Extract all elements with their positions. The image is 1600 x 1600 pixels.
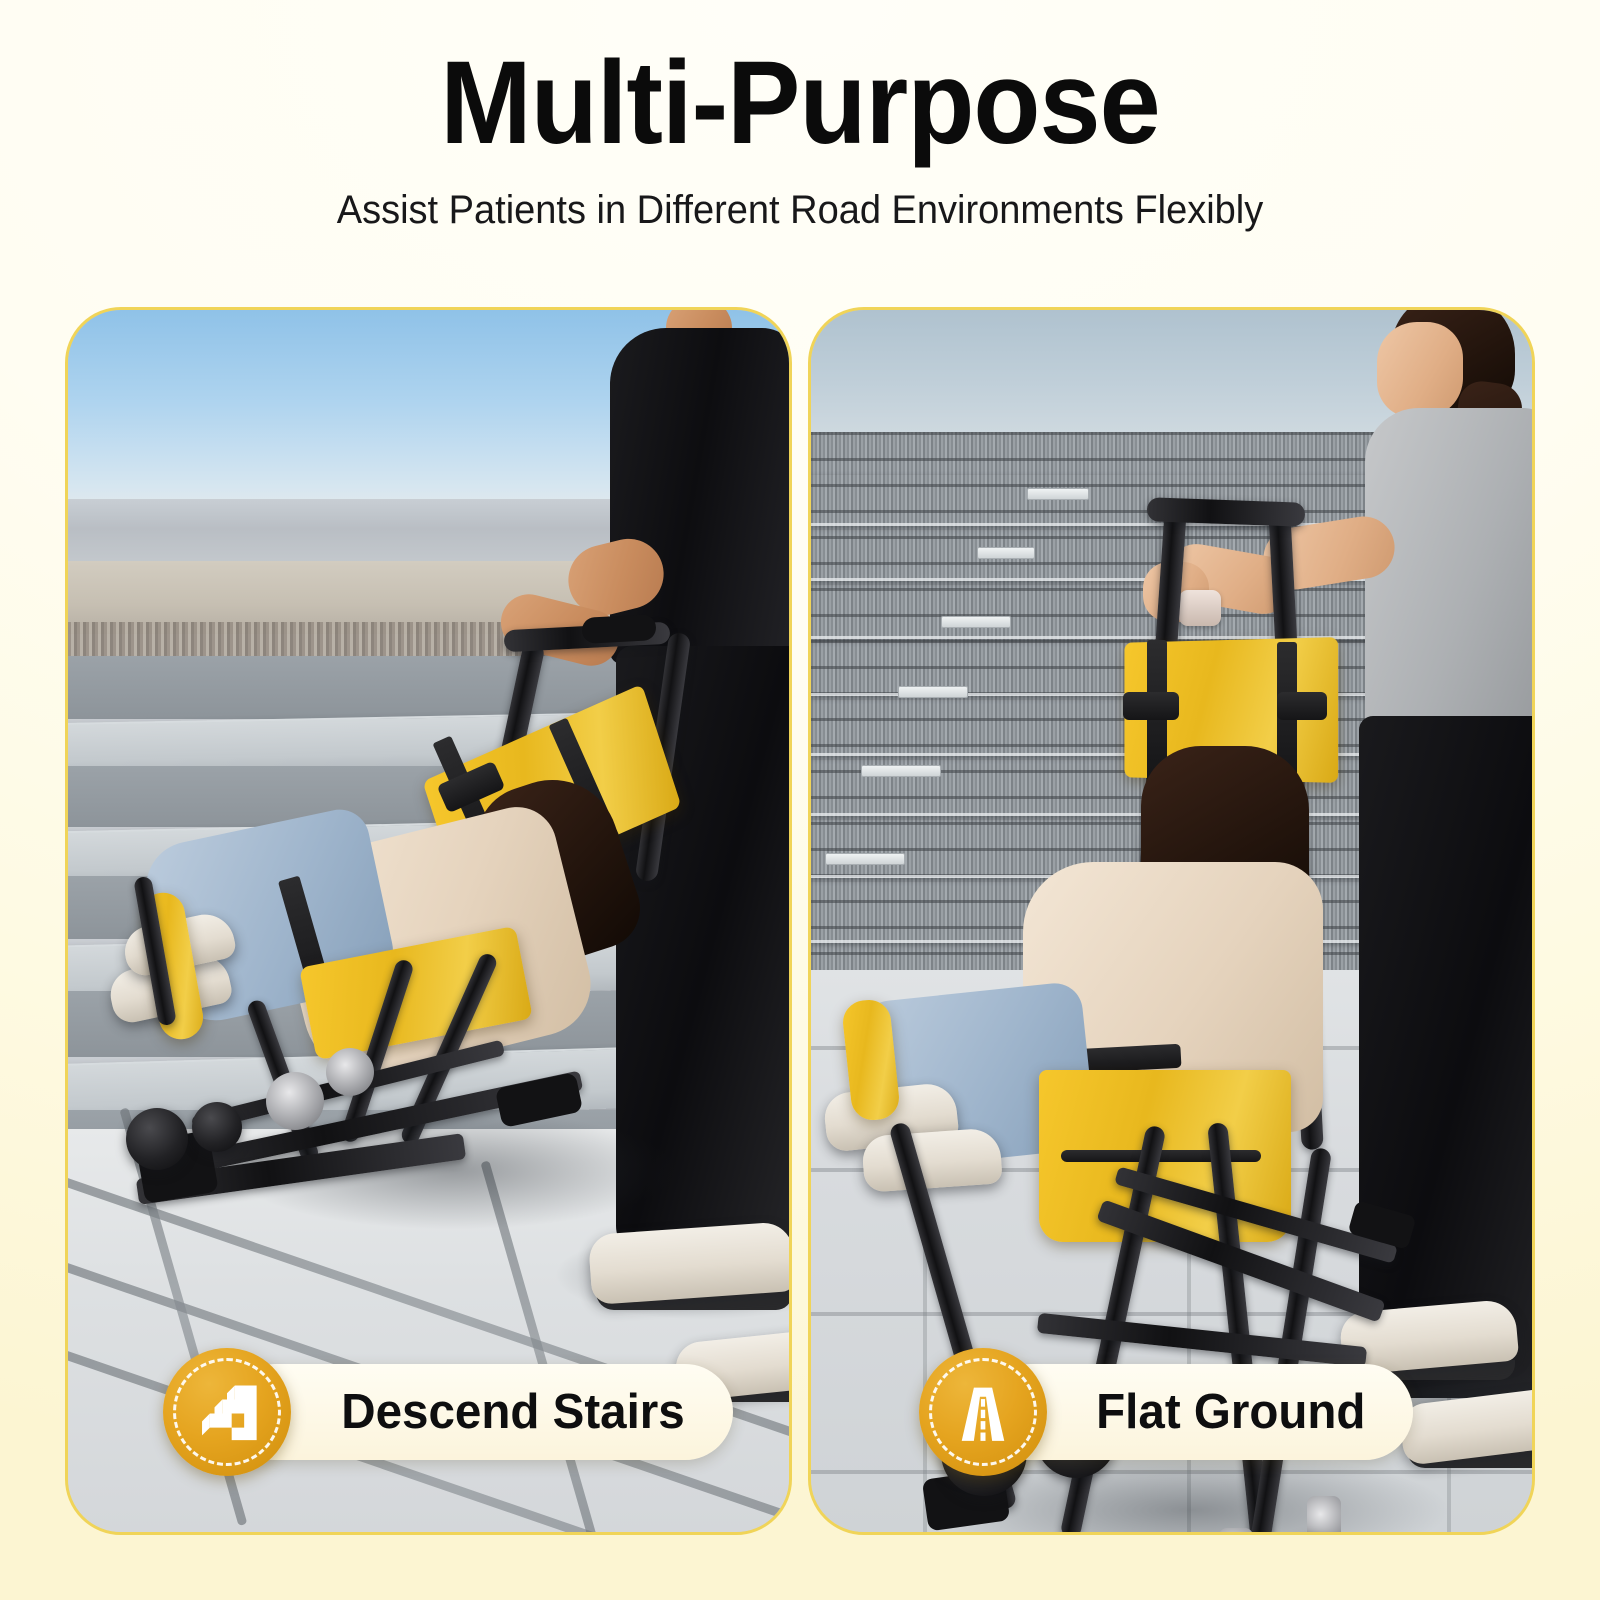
header: Multi-Purpose Assist Patients in Differe… [0, 0, 1600, 230]
caregiver-top [1365, 408, 1535, 732]
smartwatch [1179, 590, 1221, 626]
step-marker [825, 853, 905, 865]
chair-handle-grip [581, 614, 656, 644]
road-icon [919, 1348, 1047, 1476]
panel-descend-stairs: Descend Stairs [65, 307, 792, 1535]
badge-pill: Flat Ground [983, 1364, 1413, 1460]
step-marker [861, 765, 941, 777]
chair-rear-wheel [126, 1108, 188, 1170]
badge-circle [919, 1348, 1047, 1476]
page-title: Multi-Purpose [56, 44, 1544, 162]
caregiver-shoe [588, 1221, 792, 1305]
chair-shoulder-pad [1277, 692, 1327, 720]
badge-label: Descend Stairs [235, 1384, 726, 1440]
caster-fork [1219, 1528, 1253, 1535]
step-marker [977, 547, 1035, 559]
panel-flat-ground: Flat Ground [808, 307, 1535, 1535]
chair-track-roller [326, 1048, 374, 1096]
product-feature-graphic: Multi-Purpose Assist Patients in Differe… [0, 0, 1600, 1600]
caster-fork [1307, 1496, 1341, 1535]
caregiver-head [1377, 322, 1463, 418]
step-marker [898, 686, 968, 698]
chair-track-roller [266, 1072, 324, 1130]
stairs-icon [163, 1348, 291, 1476]
caregiver-torso [610, 328, 792, 664]
page-subtitle: Assist Patients in Different Road Enviro… [40, 190, 1560, 230]
step-marker [941, 616, 1011, 628]
chair-rear-wheel [192, 1102, 242, 1152]
badge-label: Flat Ground [989, 1384, 1406, 1440]
chair-shoulder-pad [1123, 692, 1179, 720]
patient-shoe [861, 1127, 1003, 1192]
badge-circle [163, 1348, 291, 1476]
badge-pill: Descend Stairs [227, 1364, 733, 1460]
chair-front-caster [1275, 1534, 1349, 1535]
caregiver-pants [1359, 716, 1535, 1398]
step-marker [1027, 488, 1089, 500]
